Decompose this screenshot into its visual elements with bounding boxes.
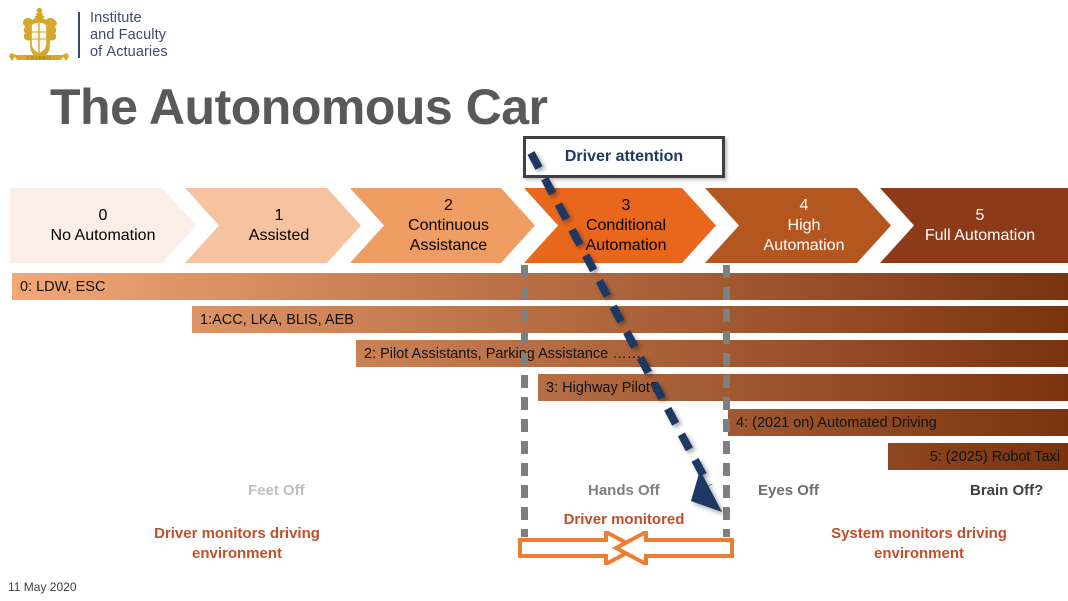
level-number: 4 bbox=[800, 195, 809, 216]
opposing-arrows-icon bbox=[518, 531, 734, 565]
level-label: Assisted bbox=[249, 226, 309, 246]
level-label: No Automation bbox=[51, 226, 156, 246]
feature-bar-label: 5: (2025) Robot Taxi bbox=[930, 449, 1068, 465]
level-number: 2 bbox=[444, 195, 453, 216]
level-number: 1 bbox=[275, 205, 284, 226]
dashed-diagonal-arrow bbox=[490, 150, 770, 530]
automation-level-1[interactable]: 1Assisted bbox=[185, 188, 361, 263]
level-label: Full Automation bbox=[925, 226, 1035, 246]
level-label: HighAutomation bbox=[764, 216, 845, 256]
automation-level-0[interactable]: 0No Automation bbox=[10, 188, 196, 263]
feature-bar-label: 1:ACC, LKA, BLIS, AEB bbox=[192, 312, 354, 328]
automation-level-5[interactable]: 5Full Automation bbox=[880, 188, 1068, 263]
state-label-feet-off: Feet Off bbox=[248, 482, 305, 499]
feature-bar-4[interactable]: 4: (2021 on) Automated Driving bbox=[728, 409, 1068, 436]
state-label-brain-off: Brain Off? bbox=[970, 482, 1043, 499]
level-number: 5 bbox=[976, 205, 985, 226]
feature-bar-5[interactable]: 5: (2025) Robot Taxi bbox=[888, 443, 1068, 470]
level-label: ContinuousAssistance bbox=[408, 216, 489, 256]
caption-left: Driver monitors drivingenvironment bbox=[110, 524, 364, 564]
level-number: 0 bbox=[99, 205, 108, 226]
feature-bar-label: 0: LDW, ESC bbox=[12, 279, 105, 295]
footer-date: 11 May 2020 bbox=[8, 580, 77, 594]
caption-right: System monitors drivingenvironment bbox=[790, 524, 1048, 564]
